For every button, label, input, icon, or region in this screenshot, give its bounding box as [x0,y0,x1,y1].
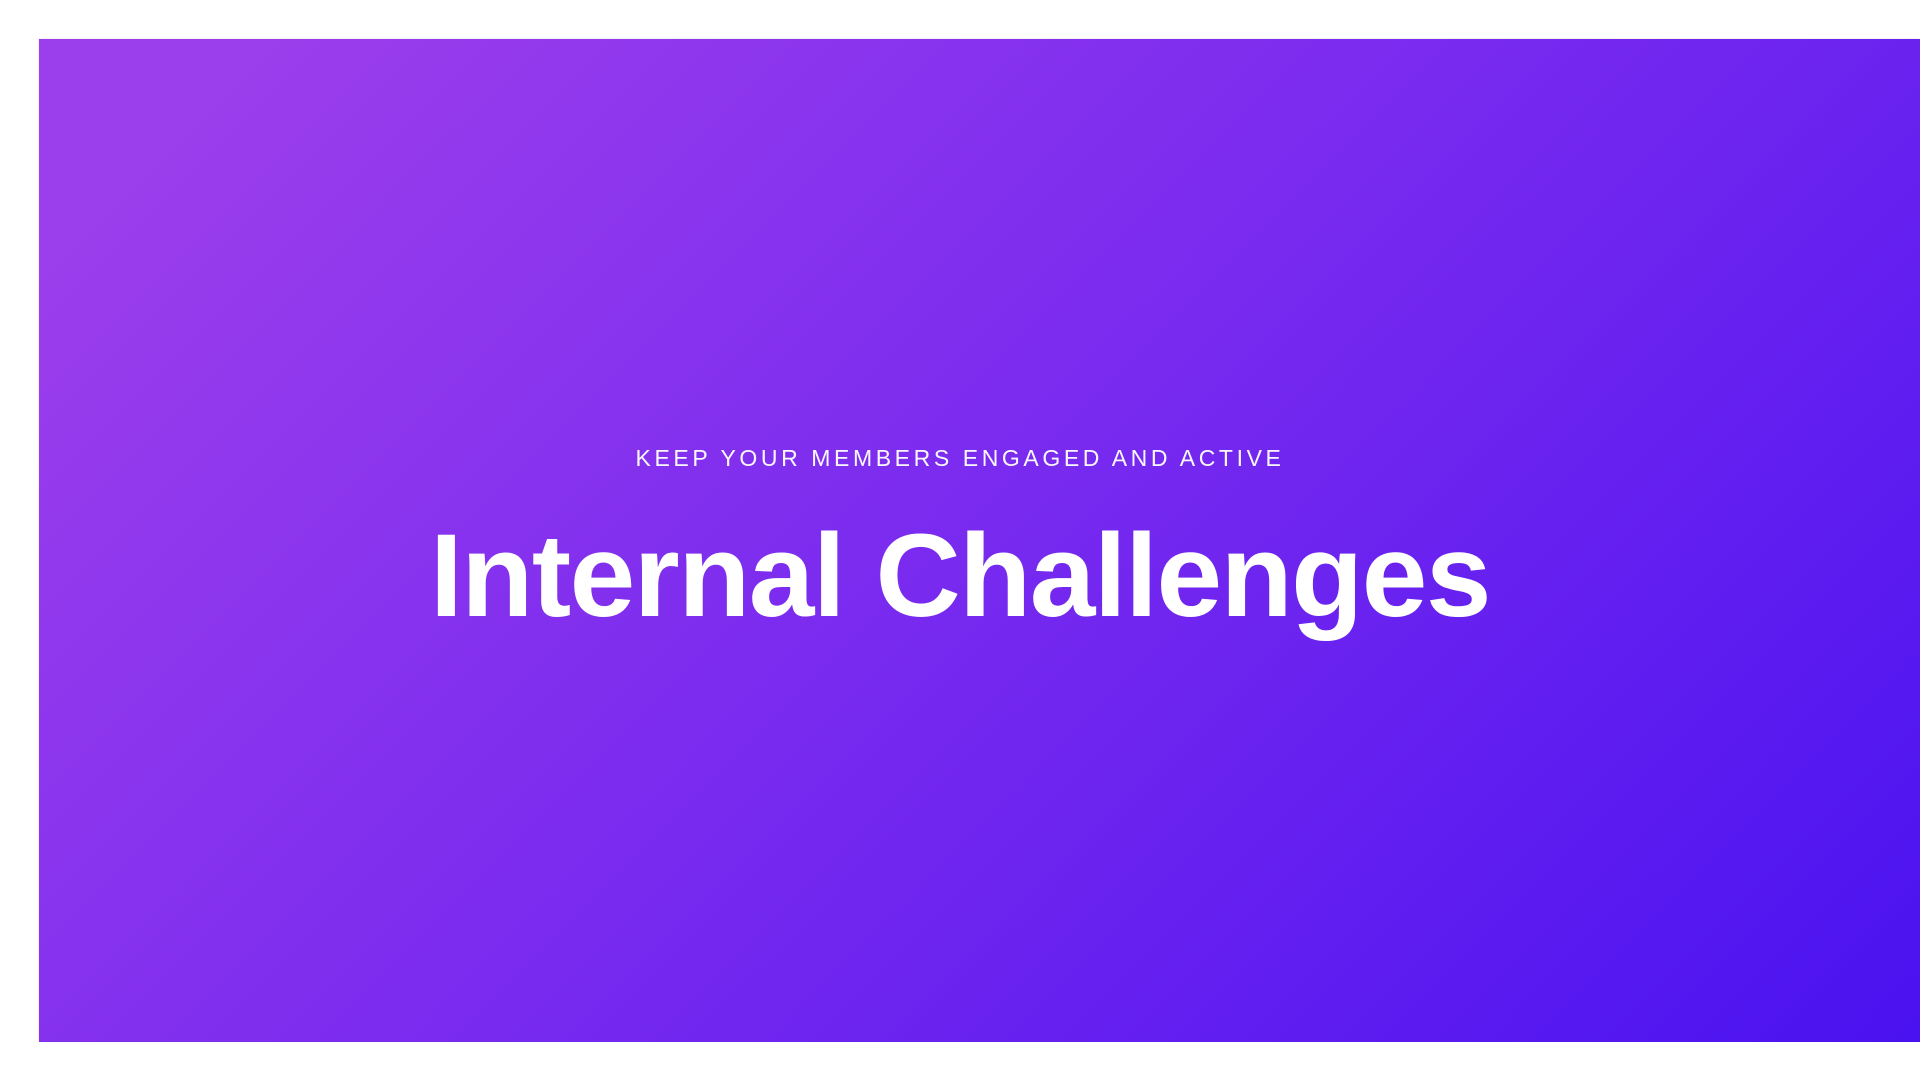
slide-content-stack: KEEP YOUR MEMBERS ENGAGED AND ACTIVE Int… [39,445,1920,637]
page-canvas: KEEP YOUR MEMBERS ENGAGED AND ACTIVE Int… [0,0,1920,1080]
title-slide: KEEP YOUR MEMBERS ENGAGED AND ACTIVE Int… [39,39,1920,1042]
slide-kicker: KEEP YOUR MEMBERS ENGAGED AND ACTIVE [636,445,1285,473]
slide-headline: Internal Challenges [430,516,1490,636]
